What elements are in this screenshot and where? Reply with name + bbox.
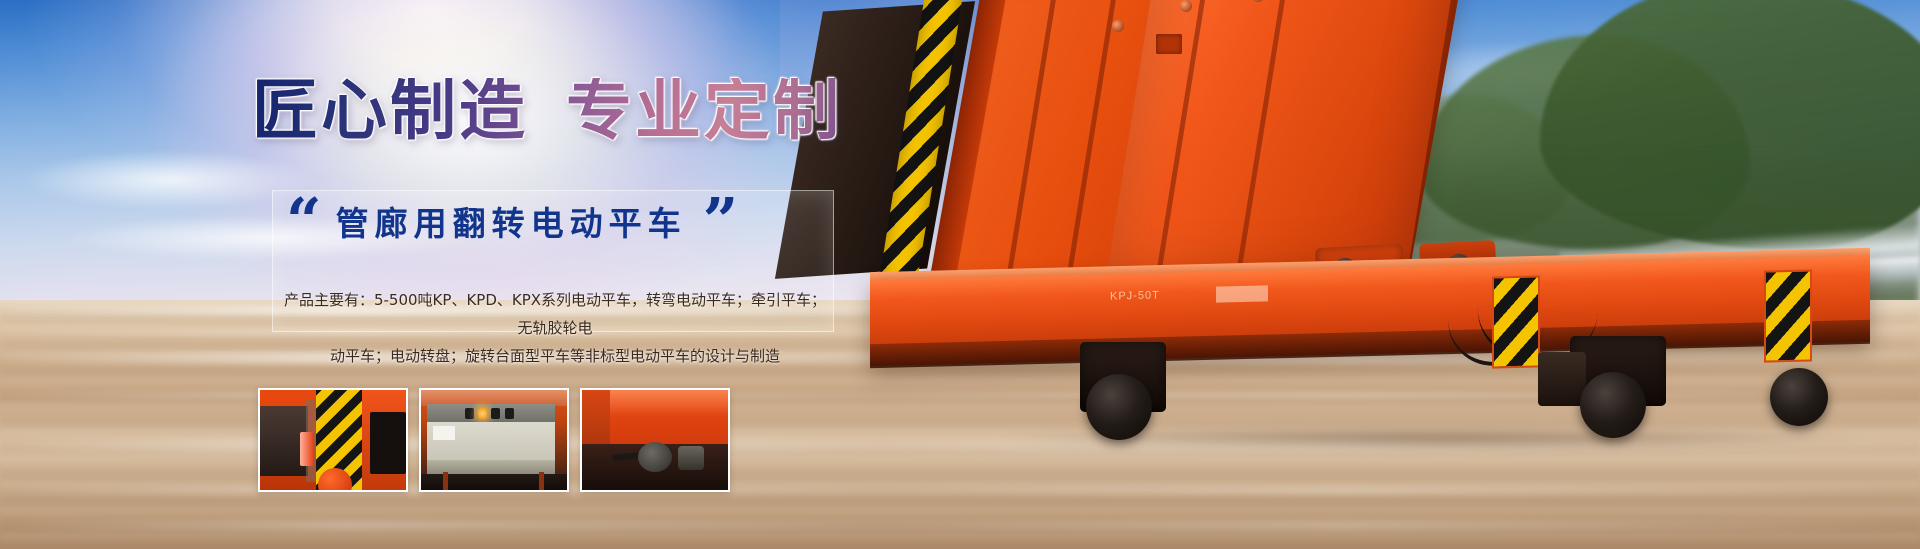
cabinet-label [433,426,455,440]
tub-fitting [1156,34,1182,54]
thumbnail-hydraulic-detail[interactable] [580,388,730,492]
description-line-2: 动平车；电动转盘；旋转台面型平车等非标型电动平车的设计与制造 [282,342,828,370]
deck-nameplate [1216,285,1268,302]
page-title: 匠心制造专业定制 [252,78,842,144]
thumbnail-hazard-corner[interactable] [258,388,408,492]
thumbnail-strip [258,388,730,492]
deck-label: KPJ-50T [1110,289,1160,302]
thumb-detail [638,442,672,472]
indicator-light [465,408,474,419]
tub-bolt [1112,20,1124,32]
thumb-detail [539,472,544,490]
indicator-light-on [478,408,487,419]
thumb-detail [678,446,704,470]
quote-open-icon: “ [286,198,320,245]
thumb-detail [370,412,406,474]
drive-motor [1538,352,1586,406]
thumb-detail [300,432,313,466]
transfer-cart-illustration: KPJ-50T [880,0,1920,549]
deck-hazard-panel [1492,275,1540,368]
subtitle-row: “ 管廊用翻转电动平车 ” [286,197,736,245]
cart-ground-shadow [1000,428,1860,450]
indicator-light [491,408,500,419]
headline-right: 专业定制 [566,72,842,149]
thumb-detail [443,472,448,490]
headline-left: 匠心制造 [252,72,528,149]
thumbnail-control-cabinet[interactable] [419,388,569,492]
subtitle-text: 管廊用翻转电动平车 [336,197,687,245]
cart-wheel [1770,368,1828,426]
product-banner: KPJ-50T 匠心制造专业定制 “ 管廊用翻转电动平车 ” 产品主要有：5-5… [0,0,1920,549]
quote-close-icon: ” [703,198,737,245]
description-line-1: 产品主要有：5-500吨KP、KPD、KPX系列电动平车，转弯电动平车；牵引平车… [284,291,826,337]
tub-bolt [1180,0,1192,12]
description-block: 产品主要有：5-500吨KP、KPD、KPX系列电动平车，转弯电动平车；牵引平车… [282,286,828,370]
indicator-light [505,408,514,419]
deck-hazard-panel [1764,269,1812,362]
